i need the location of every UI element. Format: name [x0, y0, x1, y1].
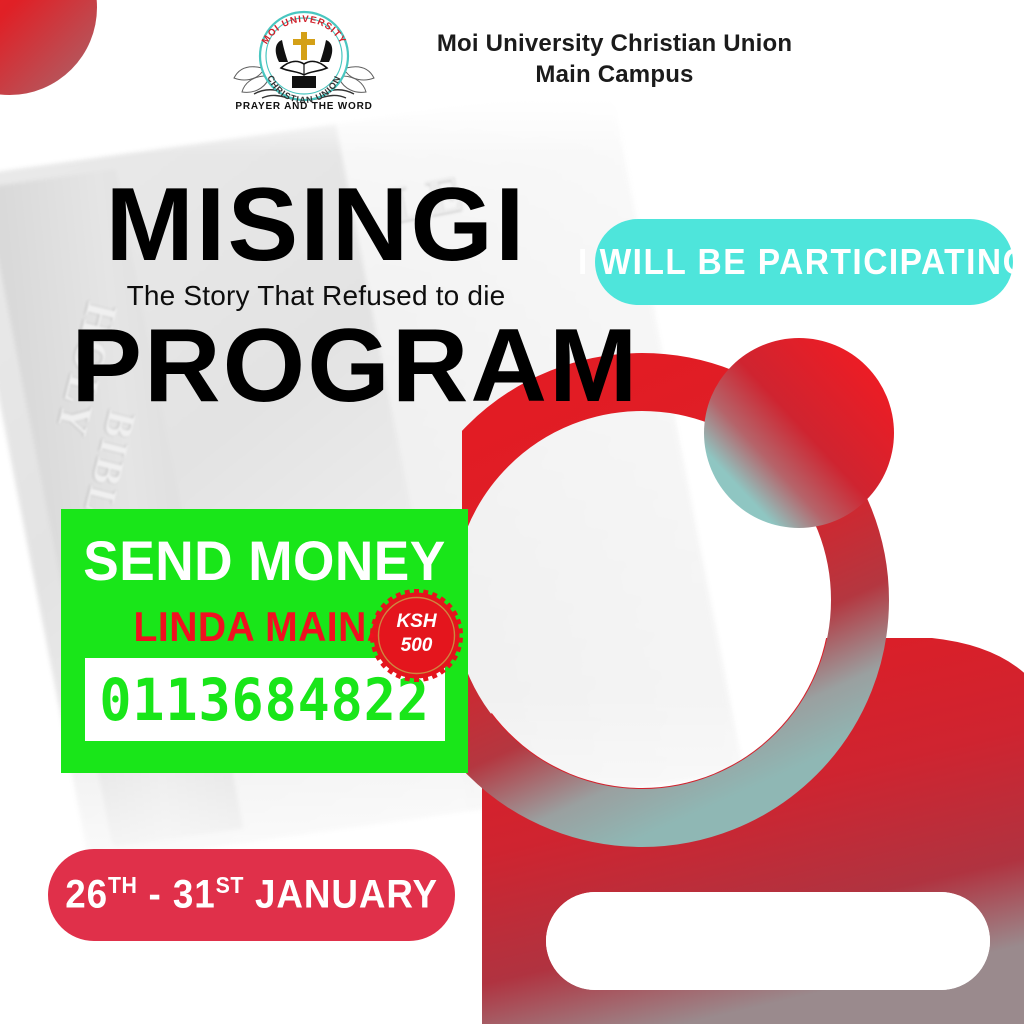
participating-badge[interactable]: I WILL BE PARTICIPATING — [595, 219, 1013, 305]
poster-header: MOI UNIVERSITY CHRISTIAN UNION PRAYER AN… — [0, 0, 1024, 118]
price-badge-amount: 500 — [369, 634, 464, 658]
date-day-start-suffix: TH — [108, 872, 137, 898]
org-name-line1: Moi University Christian Union — [437, 28, 792, 59]
name-placeholder-pill[interactable] — [546, 892, 990, 990]
program-title-block: MISINGI The Story That Refused to die PR… — [76, 176, 556, 418]
date-separator: - — [148, 873, 161, 917]
program-title-main: MISINGI — [71, 176, 561, 276]
event-date-text: 26TH - 31ST JANUARY — [65, 872, 438, 917]
send-money-heading: SEND MONEY — [71, 528, 458, 593]
svg-text:PRAYER AND THE WORD: PRAYER AND THE WORD — [235, 101, 372, 112]
program-title-word2: PROGRAM — [71, 314, 561, 418]
christian-union-logo-icon: MOI UNIVERSITY CHRISTIAN UNION PRAYER AN… — [232, 6, 377, 112]
price-badge-currency: KSH — [369, 610, 464, 634]
price-badge-label: KSH 500 — [369, 610, 464, 659]
date-day-end: 31 — [173, 873, 216, 917]
org-name-line2: Main Campus — [437, 59, 792, 90]
poster-canvas: LE HOLY BIBLE — [0, 0, 1024, 1024]
date-day-end-suffix: ST — [216, 872, 244, 898]
price-badge: KSH 500 — [369, 588, 464, 683]
participating-label: I WILL BE PARTICIPATING — [578, 241, 1024, 283]
date-month: JANUARY — [255, 873, 438, 917]
event-date-badge: 26TH - 31ST JANUARY — [48, 849, 455, 941]
date-day-start: 26 — [65, 873, 108, 917]
organization-name: Moi University Christian Union Main Camp… — [437, 28, 792, 90]
